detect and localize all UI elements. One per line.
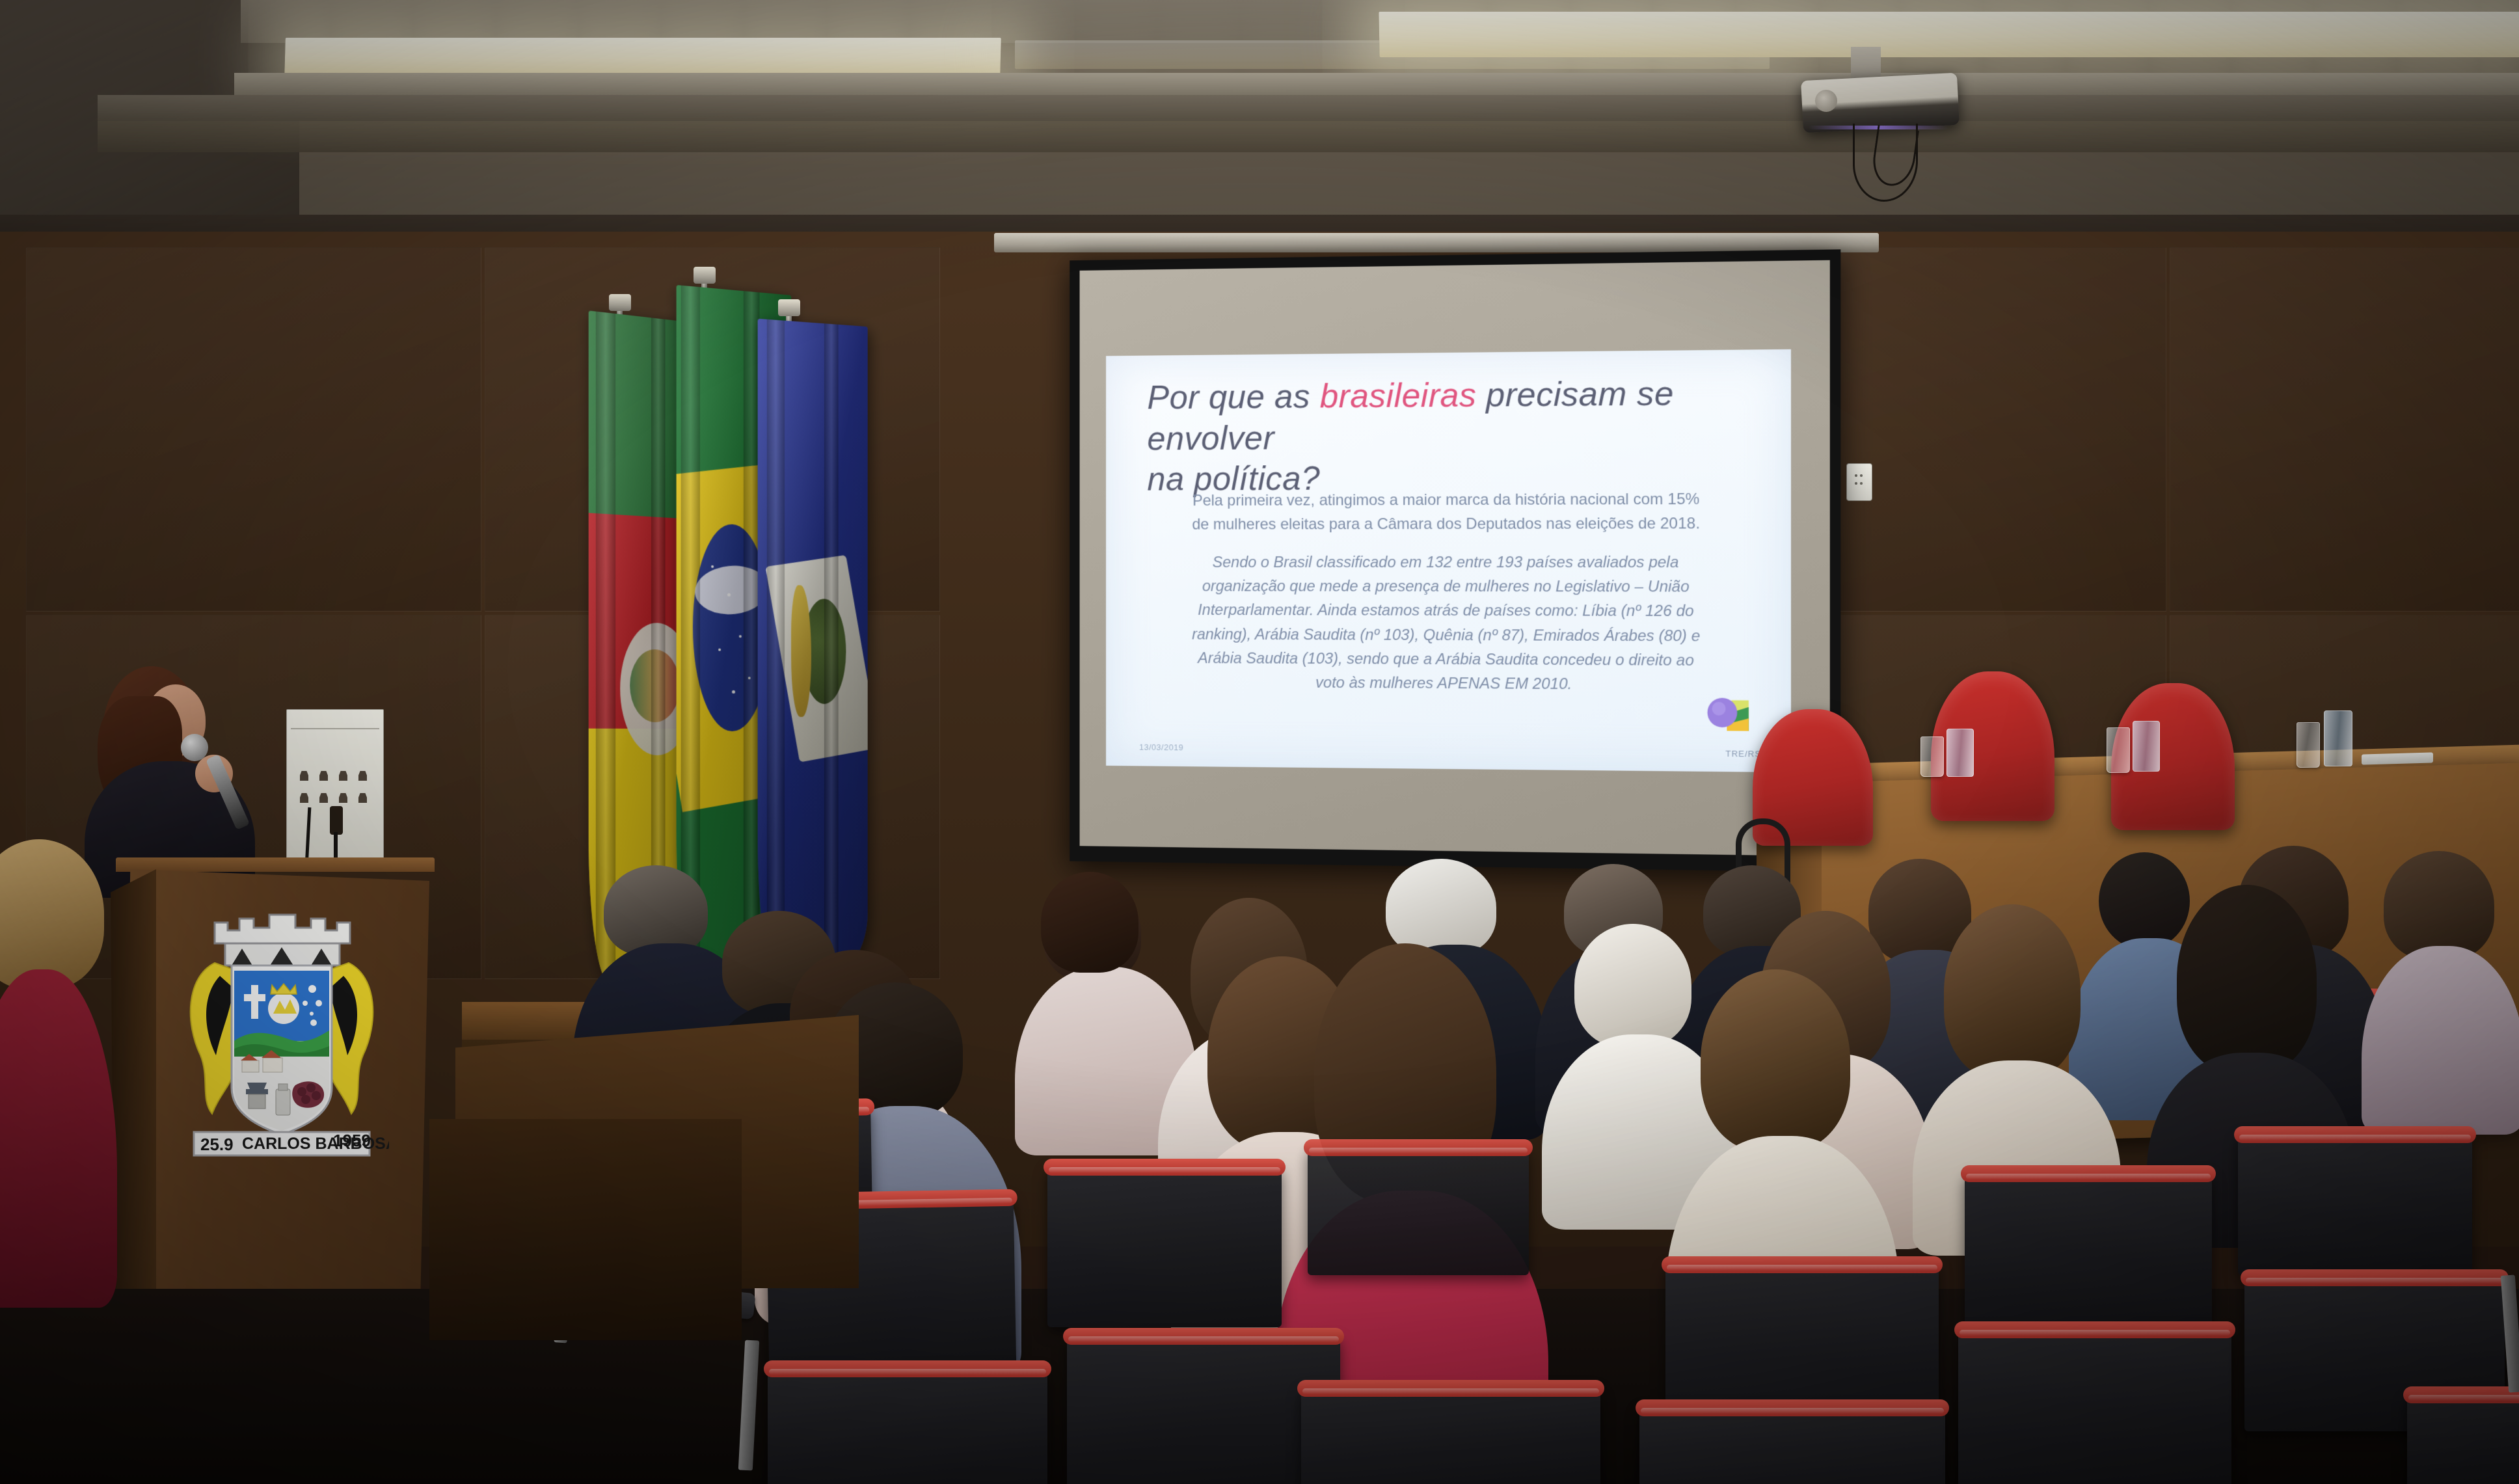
- audience-chair-f3[interactable]: [1047, 1165, 1282, 1327]
- dais-papers: [2362, 752, 2433, 764]
- slide-logo-label: TRE/RS: [1725, 748, 1761, 759]
- wall-panel-6: [2170, 247, 2519, 612]
- crest-year-text: 1959: [333, 1131, 371, 1150]
- audience-person-22: [0, 839, 124, 1308]
- wall-control-panel[interactable]: [1846, 463, 1872, 501]
- slide-date-stamp: 13/03/2019: [1139, 742, 1183, 752]
- microphone-head-icon: [181, 734, 208, 761]
- flag-finial-br: [694, 267, 716, 284]
- water-glass-3: [2297, 722, 2320, 768]
- screen-housing: [994, 233, 1879, 252]
- municipal-crest: 25.9 CARLOS BARBOSA 1959: [174, 893, 389, 1166]
- cove-light-left: [284, 38, 1001, 77]
- water-glass-2: [2107, 727, 2130, 773]
- ceiling-trim-1: [234, 73, 2519, 95]
- water-pitcher-1: [1946, 729, 1974, 777]
- audience-chair-f9[interactable]: [1965, 1171, 2212, 1327]
- audience-person-14: [1913, 904, 2121, 1210]
- side-bench-base: [429, 1119, 742, 1340]
- slide-title: Por que as brasileiras precisam se envol…: [1147, 373, 1750, 500]
- slide-paragraph-1: Pela primeira vez, atingimos a maior mar…: [1186, 487, 1706, 537]
- wall-panel-1: [26, 247, 481, 612]
- flag-finial-rs: [609, 294, 631, 311]
- audience-chair-f10[interactable]: [1958, 1327, 2231, 1484]
- auditorium-photo: Por que as brasileiras precisam se envol…: [0, 0, 2519, 1484]
- ceiling-trim-2: [98, 95, 2519, 121]
- audience-chair-f4[interactable]: [768, 1366, 1047, 1484]
- crest-day-text: 25.9: [200, 1135, 234, 1154]
- screen-frame: Por que as brasileiras precisam se envol…: [1070, 249, 1840, 872]
- water-glass-1: [1920, 736, 1944, 777]
- projected-slide: Por que as brasileiras precisam se envol…: [1106, 349, 1791, 772]
- audience-person-10: [2362, 851, 2519, 1105]
- wall-panel-5: [1815, 247, 2166, 612]
- slide-paragraph-2: Sendo o Brasil classificado em 132 entre…: [1186, 550, 1706, 697]
- ceiling-trim-3: [98, 121, 2519, 152]
- flag-finial-municipal: [778, 299, 800, 316]
- podium-top: [116, 857, 435, 872]
- flag-municipal-carlos-barbosa: [758, 319, 868, 982]
- water-pitcher-3: [2324, 710, 2352, 766]
- audience-chair-f14[interactable]: [1308, 1145, 1529, 1275]
- cove-light-right: [1379, 12, 2519, 57]
- audience-chair-f13[interactable]: [2407, 1392, 2519, 1484]
- audience-chair-f6[interactable]: [1301, 1386, 1600, 1484]
- water-pitcher-2: [2133, 721, 2160, 772]
- tre-rs-logo-icon: [1699, 690, 1756, 747]
- audience-chair-f5[interactable]: [1067, 1334, 1340, 1484]
- av-patch-panel[interactable]: [286, 709, 384, 865]
- audience-chair-f11[interactable]: [2238, 1132, 2472, 1275]
- audience-chair-f8[interactable]: [1639, 1405, 1945, 1484]
